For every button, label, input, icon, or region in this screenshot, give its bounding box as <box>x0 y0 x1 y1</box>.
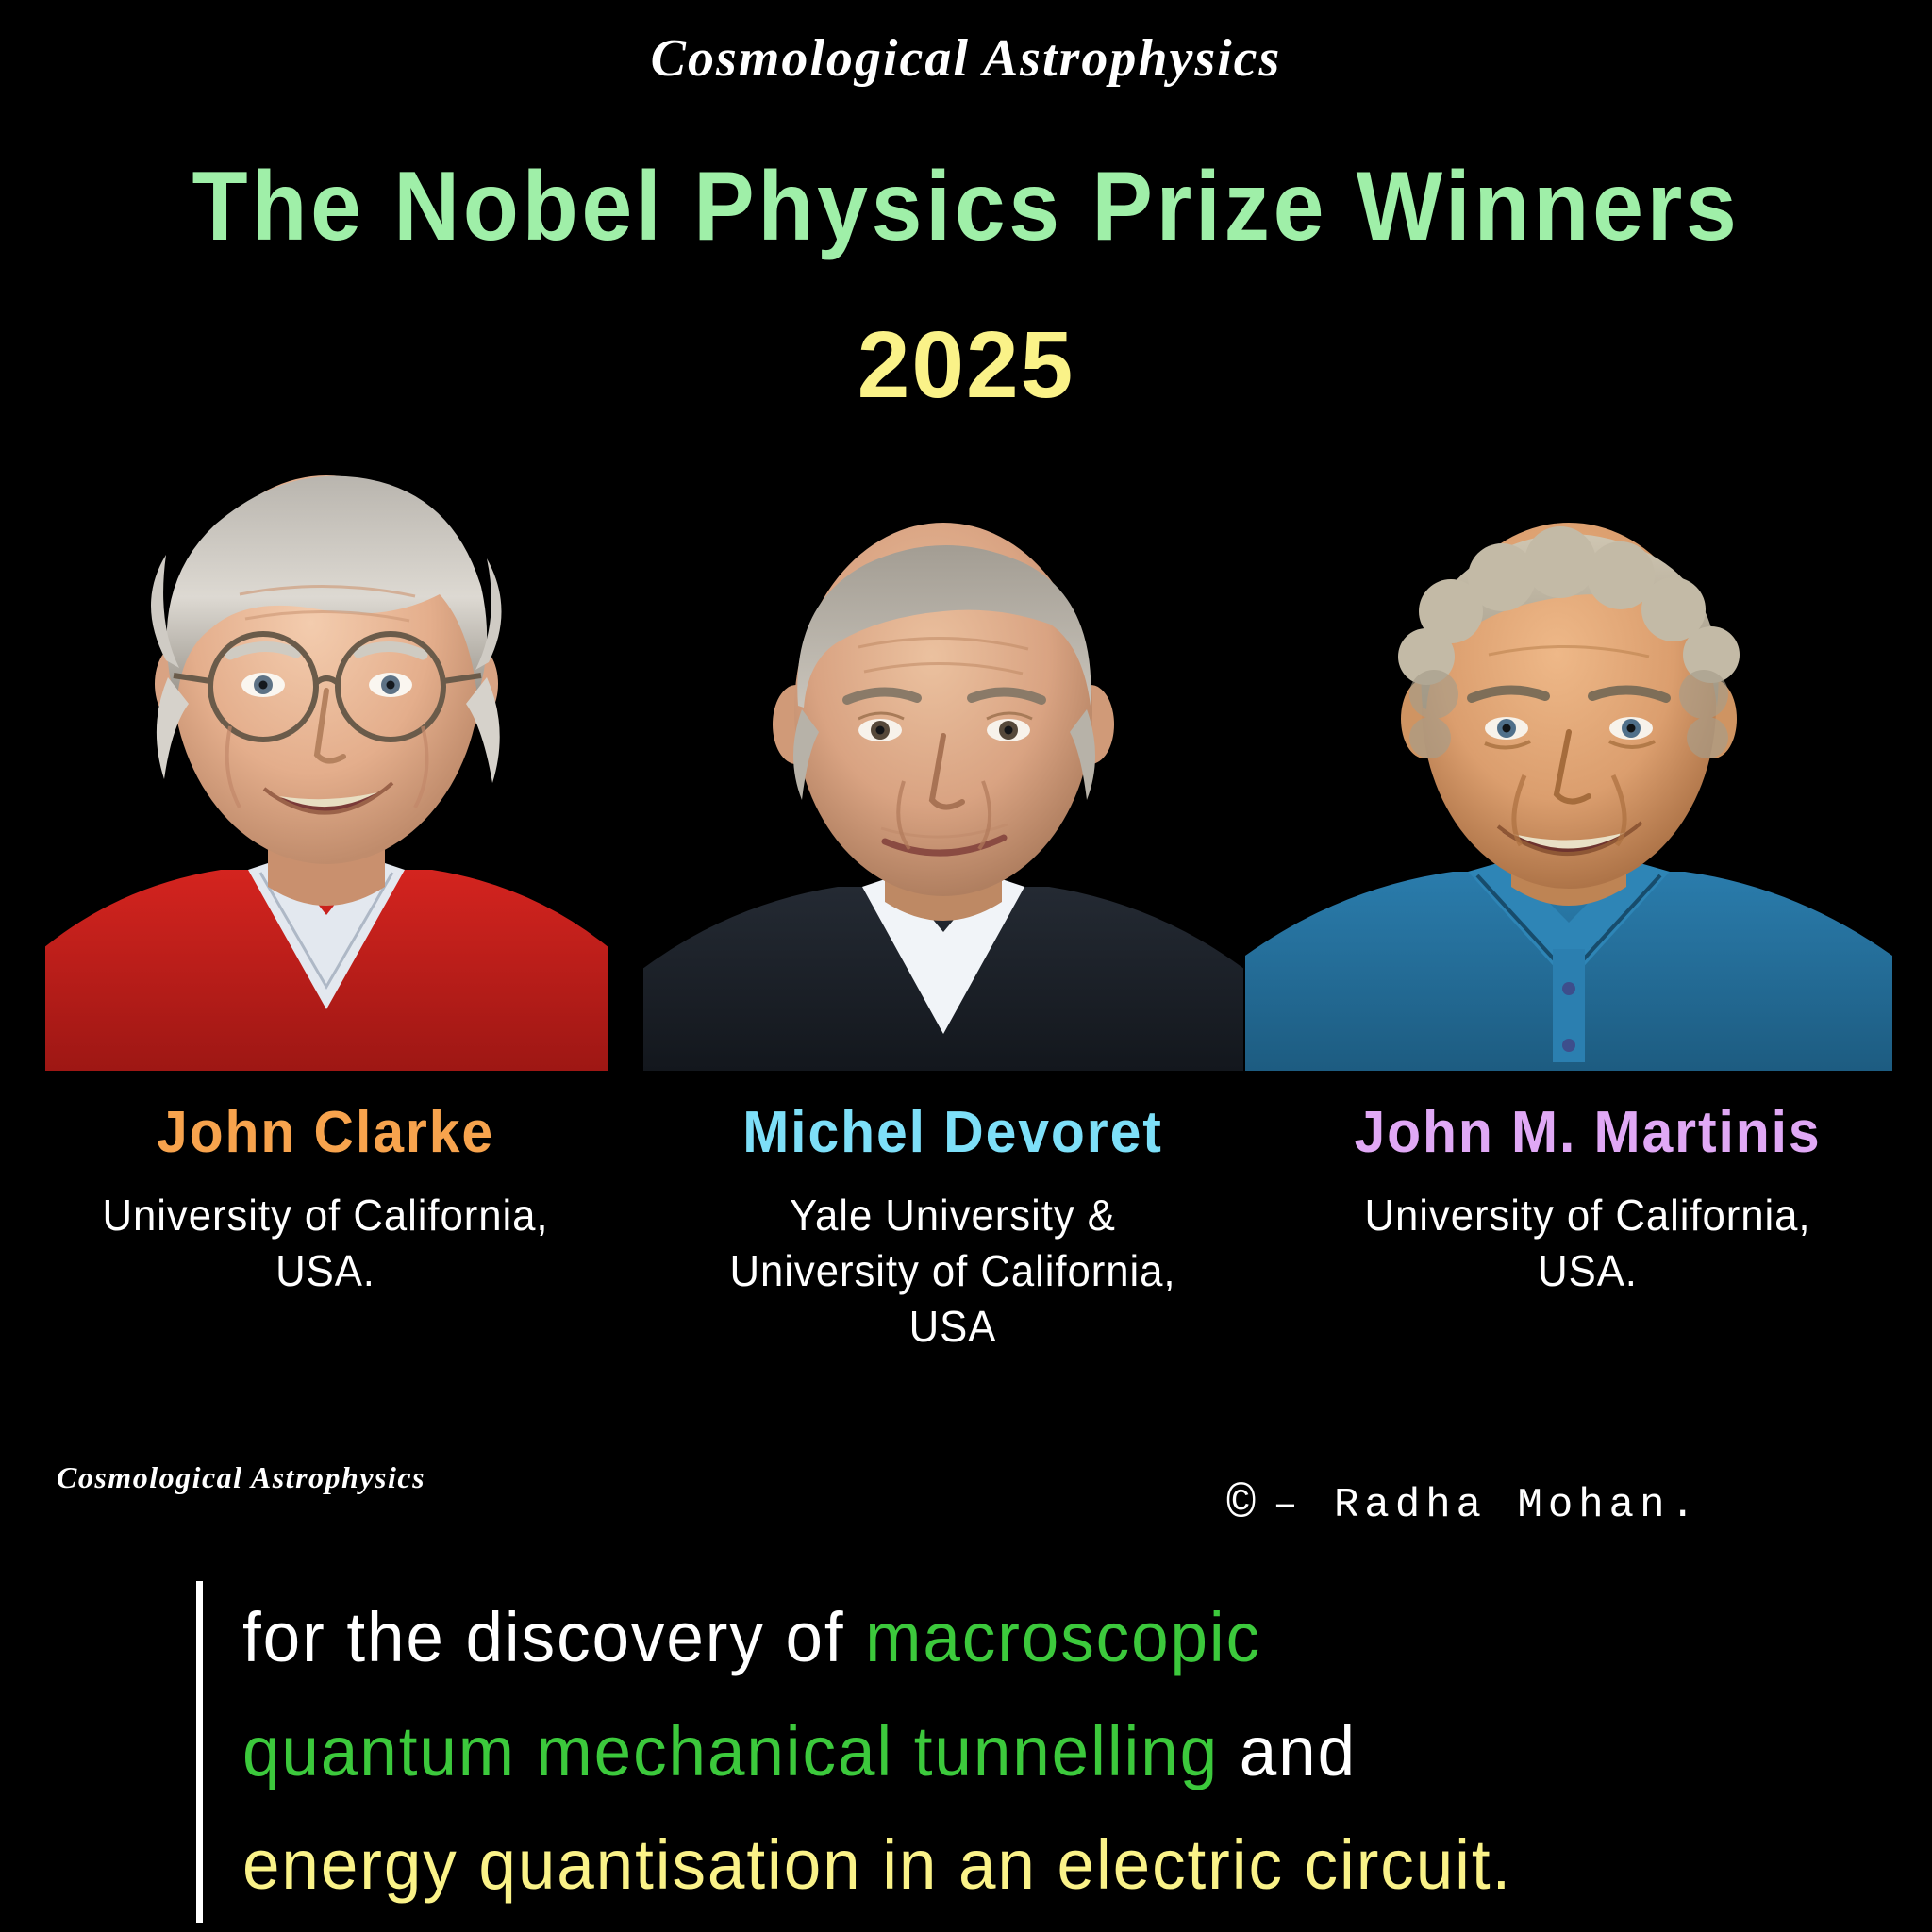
affiliation-line: Yale University & <box>658 1188 1249 1243</box>
citation-segment: and <box>1219 1712 1357 1790</box>
laureate-name-0: John Clarke <box>27 1102 625 1163</box>
poster-root: Cosmological Astrophysics The Nobel Phys… <box>0 0 1932 1932</box>
laureate-affiliation-1: Yale University & University of Californ… <box>658 1188 1249 1355</box>
citation-segment-highlight: energy quantisation in an electric circu… <box>242 1825 1512 1904</box>
laureate-credits: John Clarke University of California, US… <box>0 1102 1932 1479</box>
laureate-card-1: Michel Devoret Yale University & Univers… <box>641 1102 1264 1355</box>
copyright-author: – Radha Mohan. <box>1273 1482 1701 1529</box>
laureate-card-0: John Clarke University of California, US… <box>11 1102 640 1299</box>
laureate-name-1: Michel Devoret <box>658 1102 1249 1163</box>
laureate-name-2: John M. Martinis <box>1288 1102 1889 1163</box>
citation-line-3: energy quantisation in an electric circu… <box>242 1808 1838 1923</box>
portrait-michel-devoret <box>643 506 1243 1071</box>
portrait-john-clarke <box>45 443 608 1071</box>
portrait-row <box>0 443 1932 1075</box>
brand-header-label: Cosmological Astrophysics <box>0 28 1932 89</box>
affiliation-line: USA. <box>1288 1243 1889 1299</box>
affiliation-line: University of California, <box>658 1243 1249 1299</box>
affiliation-line: USA <box>658 1299 1249 1355</box>
brand-footer-label: Cosmological Astrophysics <box>57 1460 425 1495</box>
citation-line-1: for the discovery of macroscopic <box>242 1581 1838 1695</box>
affiliation-line: University of California, <box>1288 1188 1889 1243</box>
laureate-affiliation-2: University of California, USA. <box>1288 1188 1889 1299</box>
affiliation-line: USA. <box>27 1243 625 1299</box>
copyright-icon: © <box>1226 1481 1256 1530</box>
citation-line-2: quantum mechanical tunnelling and <box>242 1695 1838 1809</box>
portrait-john-m-martinis <box>1245 506 1892 1071</box>
citation-segment-highlight: macroscopic <box>865 1598 1261 1676</box>
citation-blockquote: for the discovery of macroscopic quantum… <box>196 1581 1904 1923</box>
copyright-line: © – Radha Mohan. <box>1226 1481 1701 1530</box>
affiliation-line: University of California, <box>27 1188 625 1243</box>
citation-segment: for the discovery of <box>242 1598 865 1676</box>
award-year: 2025 <box>0 311 1932 420</box>
page-title: The Nobel Physics Prize Winners <box>68 151 1865 263</box>
laureate-card-2: John M. Martinis University of Californi… <box>1272 1102 1904 1299</box>
citation-segment-highlight: quantum mechanical tunnelling <box>242 1712 1219 1790</box>
laureate-affiliation-0: University of California, USA. <box>27 1188 625 1299</box>
